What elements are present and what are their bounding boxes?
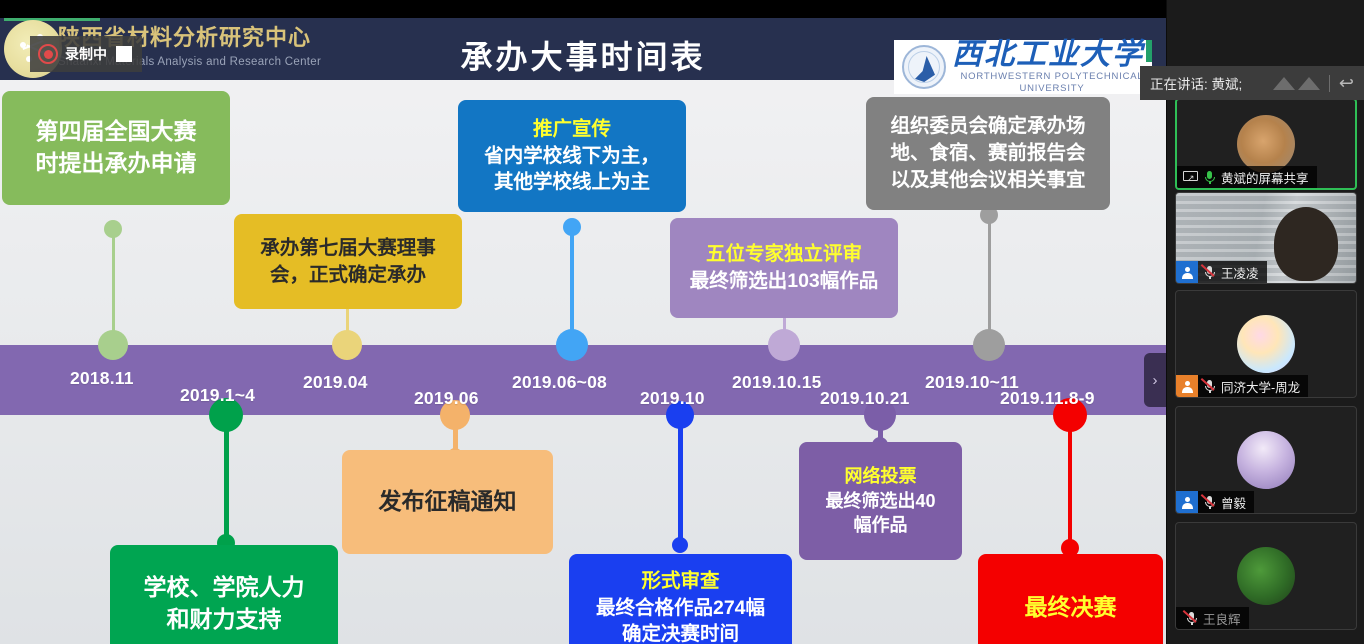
university-seal-icon	[902, 45, 946, 89]
timeline-card-line: 以及其他会议相关事宜	[890, 167, 1085, 194]
timeline-card-line: 学校、学院人力	[144, 572, 305, 604]
participant-name: 王凌凌	[1221, 263, 1259, 282]
participant-tile[interactable]: 王凌凌	[1175, 192, 1357, 284]
timeline-date-label: 2019.06~08	[512, 372, 607, 393]
timeline-node-cap	[563, 218, 581, 236]
stop-recording-button[interactable]	[116, 46, 132, 62]
timeline-date-label: 2019.11.8-9	[1000, 388, 1095, 409]
avatar	[1237, 115, 1295, 173]
timeline-card: 形式审查最终合格作品274幅确定决赛时间	[569, 554, 792, 644]
person-icon	[1176, 375, 1198, 397]
person-icon	[1176, 491, 1198, 513]
timeline-card: 第四届全国大赛时提出承办申请	[2, 91, 230, 205]
timeline-card: 组织委员会确定承办场地、食宿、赛前报告会以及其他会议相关事宜	[866, 97, 1110, 210]
participant-nameplate: ↗黄斌的屏幕共享	[1177, 166, 1317, 188]
avatar	[1237, 547, 1295, 605]
timeline-card-line: 地、食宿、赛前报告会	[890, 140, 1085, 167]
timeline-card-line: 发布征稿通知	[379, 486, 517, 518]
logo-accent-corner	[1146, 40, 1152, 62]
timeline-connector	[224, 415, 229, 543]
timeline-date-label: 2019.10	[640, 388, 705, 409]
timeline-card-line: 网络投票	[845, 464, 917, 489]
participant-name: 同济大学-周龙	[1221, 377, 1300, 396]
microphone-muted-icon[interactable]	[1185, 611, 1198, 626]
slide-header: 陕西省材料分析研究中心 Shaanxi Materials Analysis a…	[0, 18, 1166, 80]
panel-collapse-arrow-icon[interactable]: ›	[1144, 353, 1166, 407]
timeline-card: 网络投票最终筛选出40幅作品	[799, 442, 962, 560]
timeline-card-line: 时提出承办申请	[36, 148, 197, 180]
timeline-date-label: 2018.11	[70, 368, 134, 389]
timeline-card: 推广宣传省内学校线下为主，其他学校线上为主	[458, 100, 686, 212]
university-name-en: NORTHWESTERN POLYTECHNICAL UNIVERSITY	[952, 71, 1152, 95]
timeline-node-cap	[672, 537, 688, 553]
meeting-window: 陕西省材料分析研究中心 Shaanxi Materials Analysis a…	[0, 0, 1364, 644]
timeline-card-line: 最终合格作品274幅	[596, 595, 765, 622]
timeline-card-line: 最终筛选出103幅作品	[690, 268, 879, 295]
timeline-card-line: 最终筛选出40	[825, 489, 935, 514]
participant-tile[interactable]: 王良辉	[1175, 522, 1357, 630]
timeline-connector	[112, 229, 115, 345]
speaker-bar-controls: ↩	[1273, 74, 1354, 92]
timeline-card-line: 其他学校线上为主	[494, 169, 650, 196]
participant-name: 王良辉	[1203, 609, 1241, 628]
timeline-card-line: 省内学校线下为主，	[484, 143, 660, 170]
timeline-date-label: 2019.10.21	[820, 388, 910, 409]
timeline-card: 五位专家独立评审最终筛选出103幅作品	[670, 218, 898, 318]
microphone-muted-icon[interactable]	[1203, 495, 1216, 510]
timeline-card: 学校、学院人力和财力支持	[110, 545, 338, 644]
logo-accent-bar	[4, 18, 100, 21]
timeline-card-line: 确定决赛时间	[622, 621, 739, 644]
timeline-date-label: 2019.06	[414, 388, 479, 409]
participant-tile[interactable]: ↗黄斌的屏幕共享	[1175, 98, 1357, 190]
timeline-card-line: 形式审查	[641, 568, 719, 595]
presentation-slide: 陕西省材料分析研究中心 Shaanxi Materials Analysis a…	[0, 18, 1166, 644]
participant-nameplate: 同济大学-周龙	[1176, 375, 1308, 397]
screen-share-icon: ↗	[1183, 171, 1198, 183]
timeline-connector	[678, 415, 683, 545]
active-speaker-bar: 正在讲话: 黄斌; ↩	[1140, 66, 1364, 100]
timeline-card-line: 承办第七届大赛理事	[260, 235, 436, 262]
microphone-on-icon[interactable]	[1203, 170, 1216, 185]
divider	[1329, 75, 1330, 92]
university-name-cn: 西北工业大学	[952, 39, 1152, 71]
spacer	[1176, 607, 1180, 629]
timeline-card: 承办第七届大赛理事会，正式确定承办	[234, 214, 462, 309]
participant-name: 曾毅	[1221, 493, 1246, 512]
university-logo: 西北工业大学 NORTHWESTERN POLYTECHNICAL UNIVER…	[894, 40, 1152, 94]
participant-nameplate: 王凌凌	[1176, 261, 1267, 283]
avatar	[1237, 315, 1295, 373]
timeline-date-label: 2019.1~4	[180, 385, 255, 406]
timeline-connector	[570, 227, 574, 345]
recording-label: 录制中	[65, 44, 107, 64]
timeline-card-line: 第四届全国大赛	[36, 116, 197, 148]
participant-tile[interactable]: 曾毅	[1175, 406, 1357, 514]
participant-name: 黄斌的屏幕共享	[1221, 168, 1309, 187]
timeline-connector	[988, 215, 991, 345]
timeline-card: 最终决赛	[978, 554, 1163, 644]
microphone-muted-icon[interactable]	[1203, 379, 1216, 394]
timeline-card-line: 和财力支持	[167, 604, 282, 636]
recording-indicator: 录制中	[30, 36, 142, 72]
timeline-card: 发布征稿通知	[342, 450, 553, 554]
timeline-card-line: 幅作品	[854, 513, 908, 538]
timeline-date-label: 2019.10.15	[732, 372, 822, 393]
avatar	[1237, 431, 1295, 489]
return-arrow-icon[interactable]: ↩	[1339, 74, 1354, 92]
timeline-node-cap	[104, 220, 122, 238]
participant-nameplate: 王良辉	[1176, 607, 1249, 629]
timeline-card-line: 推广宣传	[533, 116, 611, 143]
timeline-card-line: 组织委员会确定承办场	[890, 113, 1085, 140]
timeline-date-label: 2019.04	[303, 372, 368, 393]
active-speaker-label: 正在讲话: 黄斌;	[1150, 73, 1242, 93]
participant-nameplate: 曾毅	[1176, 491, 1254, 513]
record-icon[interactable]	[38, 44, 58, 64]
person-icon	[1176, 261, 1198, 283]
timeline-card-line: 五位专家独立评审	[706, 241, 862, 268]
collapse-chevrons-icon[interactable]	[1273, 77, 1320, 90]
participant-tile[interactable]: 同济大学-周龙	[1175, 290, 1357, 398]
timeline-card-line: 最终决赛	[1025, 592, 1117, 624]
timeline-connector	[1068, 415, 1072, 548]
timeline-card-line: 会，正式确定承办	[270, 262, 426, 289]
microphone-muted-icon[interactable]	[1203, 265, 1216, 280]
shared-screen-area: 陕西省材料分析研究中心 Shaanxi Materials Analysis a…	[0, 0, 1166, 644]
